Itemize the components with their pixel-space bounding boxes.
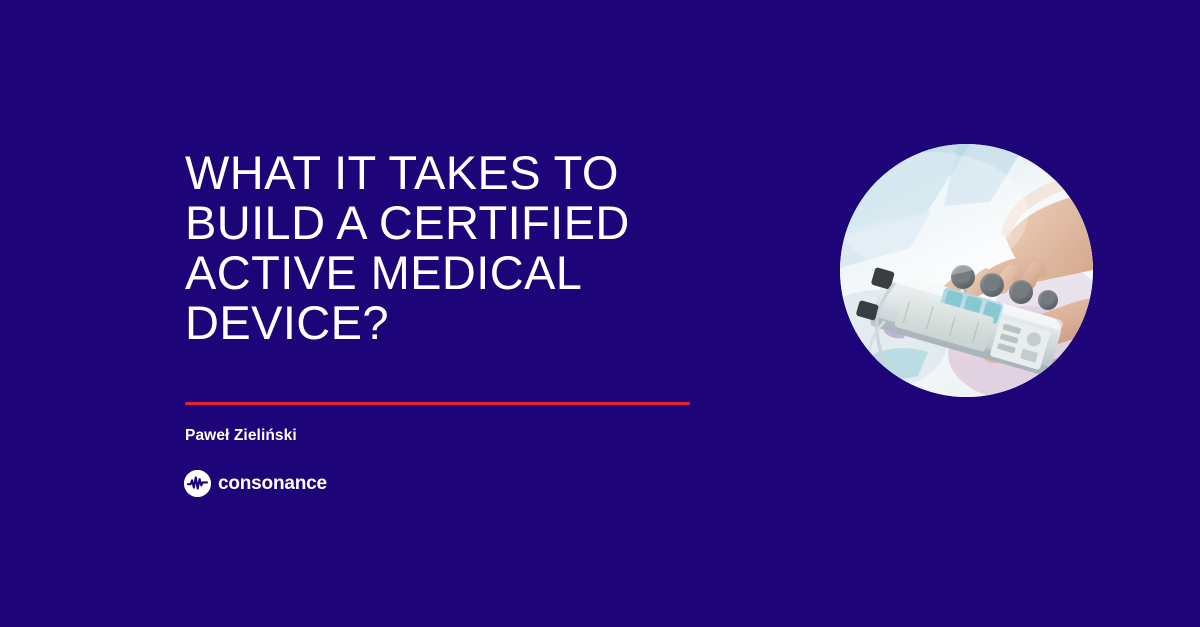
circular-photo — [840, 144, 1093, 397]
title-block: WHAT IT TAKES TO BUILD A CERTIFIED ACTIV… — [185, 148, 745, 348]
page-title: WHAT IT TAKES TO BUILD A CERTIFIED ACTIV… — [185, 148, 745, 348]
author-name: Paweł Zieliński — [185, 427, 297, 445]
brand-lockup: consonance — [184, 470, 327, 497]
slide-canvas: WHAT IT TAKES TO BUILD A CERTIFIED ACTIV… — [0, 0, 1200, 627]
waveform-circle-icon — [184, 470, 211, 497]
brand-wordmark: consonance — [218, 473, 327, 495]
accent-divider — [185, 402, 690, 405]
